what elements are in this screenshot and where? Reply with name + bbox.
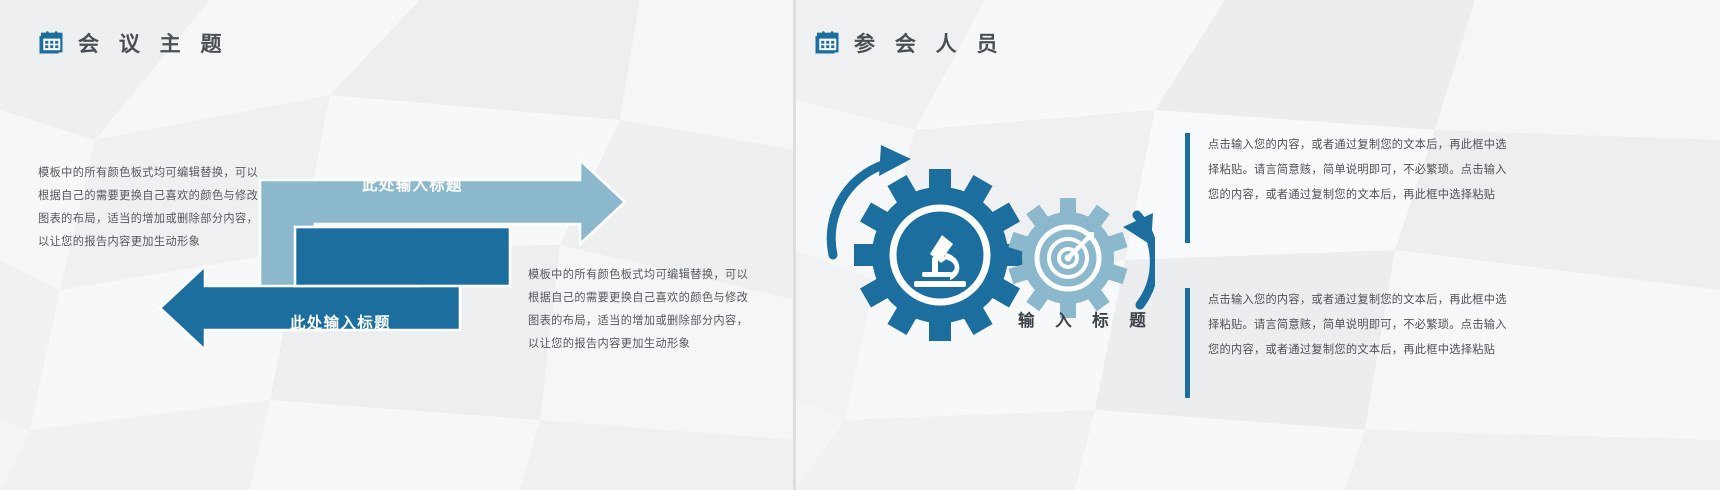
bullet-accent-bar xyxy=(1185,288,1190,398)
arrow-top-label: 此处输入标题 xyxy=(362,173,463,195)
page-title-right: 参 会 人 员 xyxy=(854,28,1005,58)
slide-divider xyxy=(793,0,796,490)
gear-small-target xyxy=(1008,198,1127,318)
header-left: 会 议 主 题 xyxy=(36,28,229,58)
bullet-text-1: 点击输入您的内容，或者通过复制您的文本后，再此框中选择粘贴。请言简意赅，简单说明… xyxy=(1208,133,1508,243)
calendar-icon xyxy=(36,29,64,57)
bullet-text-2: 点击输入您的内容，或者通过复制您的文本后，再此框中选择粘贴。请言简意赅，简单说明… xyxy=(1208,288,1508,398)
bullet-block-2: 点击输入您的内容，或者通过复制您的文本后，再此框中选择粘贴。请言简意赅，简单说明… xyxy=(1185,288,1508,398)
page-title-left: 会 议 主 题 xyxy=(78,28,229,58)
bullet-accent-bar xyxy=(1185,133,1190,243)
gear-large-microscope xyxy=(854,169,1026,341)
header-right: 参 会 人 员 xyxy=(812,28,1005,58)
left-paragraph: 模板中的所有颜色板式均可编辑替换，可以根据自己的需要更换自己喜欢的颜色与修改图表… xyxy=(38,162,260,254)
bullet-block-1: 点击输入您的内容，或者通过复制您的文本后，再此框中选择粘贴。请言简意赅，简单说明… xyxy=(1185,133,1508,243)
calendar-icon xyxy=(812,29,840,57)
slide-left: 会 议 主 题 模板中的所有颜色板式均可编辑替换，可以根据自己的需要更换自己喜欢… xyxy=(0,0,795,490)
arrow-bottom-label: 此处输入标题 xyxy=(290,311,391,333)
center-paragraph: 模板中的所有颜色板式均可编辑替换，可以根据自己的需要更换自己喜欢的颜色与修改图表… xyxy=(528,264,750,356)
gears-caption: 输 入 标 题 xyxy=(1018,307,1154,331)
arrow-inner-bar xyxy=(295,227,510,286)
rotation-arrow-left-head xyxy=(879,145,911,176)
